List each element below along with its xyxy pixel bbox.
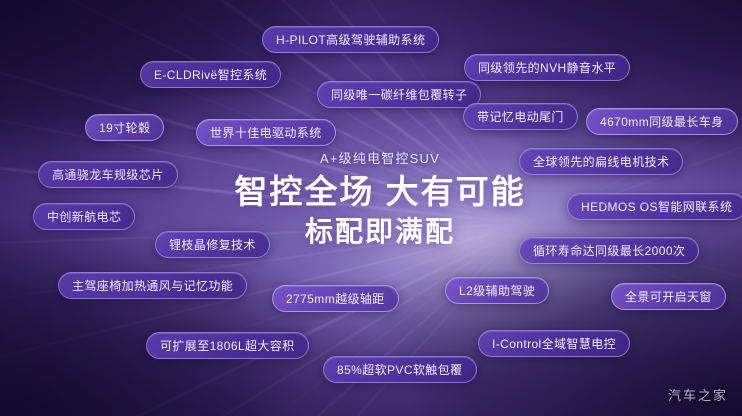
watermark: 汽车之家 (668, 385, 728, 404)
feature-pill-edrive-top10[interactable]: 世界十佳电驱动系统 (196, 119, 336, 146)
feature-pill-body-length[interactable]: 4670mm同级最长车身 (586, 108, 738, 135)
feature-pill-l2-adas[interactable]: L2级辅助驾驶 (445, 277, 549, 304)
feature-pill-calb-cell[interactable]: 中创新航电芯 (33, 203, 135, 230)
promo-poster: H-PILOT高级驾驶辅助系统E-CLDRivë智控系统同级领先的NVH静音水平… (0, 0, 742, 416)
feature-pill-wheel-19[interactable]: 19寸轮毂 (85, 114, 164, 141)
feature-pill-wheelbase[interactable]: 2775mm越级轴距 (272, 285, 399, 312)
feature-pill-carbon-rotor[interactable]: 同级唯一碳纤维包覆转子 (317, 81, 481, 108)
feature-pill-cycle-life[interactable]: 循环寿命达同级最长2000次 (519, 237, 699, 264)
feature-pill-flat-wire[interactable]: 全球领先的扁线电机技术 (519, 148, 683, 175)
feature-pill-power-tailgate[interactable]: 带记忆电动尾门 (463, 103, 578, 130)
feature-pill-snapdragon[interactable]: 高通骁龙车规级芯片 (38, 161, 178, 188)
feature-pill-li-repair[interactable]: 锂枝晶修复技术 (155, 231, 270, 258)
feature-pill-sunroof[interactable]: 全景可开启天窗 (611, 283, 726, 310)
feature-pill-nvh[interactable]: 同级领先的NVH静音水平 (464, 54, 630, 81)
feature-pill-h-pilot[interactable]: H-PILOT高级驾驶辅助系统 (262, 26, 439, 53)
feature-pill-i-control[interactable]: I-Control全域智慧电控 (478, 330, 630, 357)
feature-pill-hedmos-os[interactable]: HEDMOS OS智能网联系统 (567, 193, 742, 220)
feature-pill-pvc-soft[interactable]: 85%超软PVC软触包覆 (323, 356, 477, 383)
feature-pill-seat-comfort[interactable]: 主驾座椅加热通风与记忆功能 (58, 272, 247, 299)
feature-pill-e-cldrive[interactable]: E-CLDRivë智控系统 (140, 61, 281, 88)
feature-pill-cargo-volume[interactable]: 可扩展至1806L超大容积 (146, 332, 309, 359)
